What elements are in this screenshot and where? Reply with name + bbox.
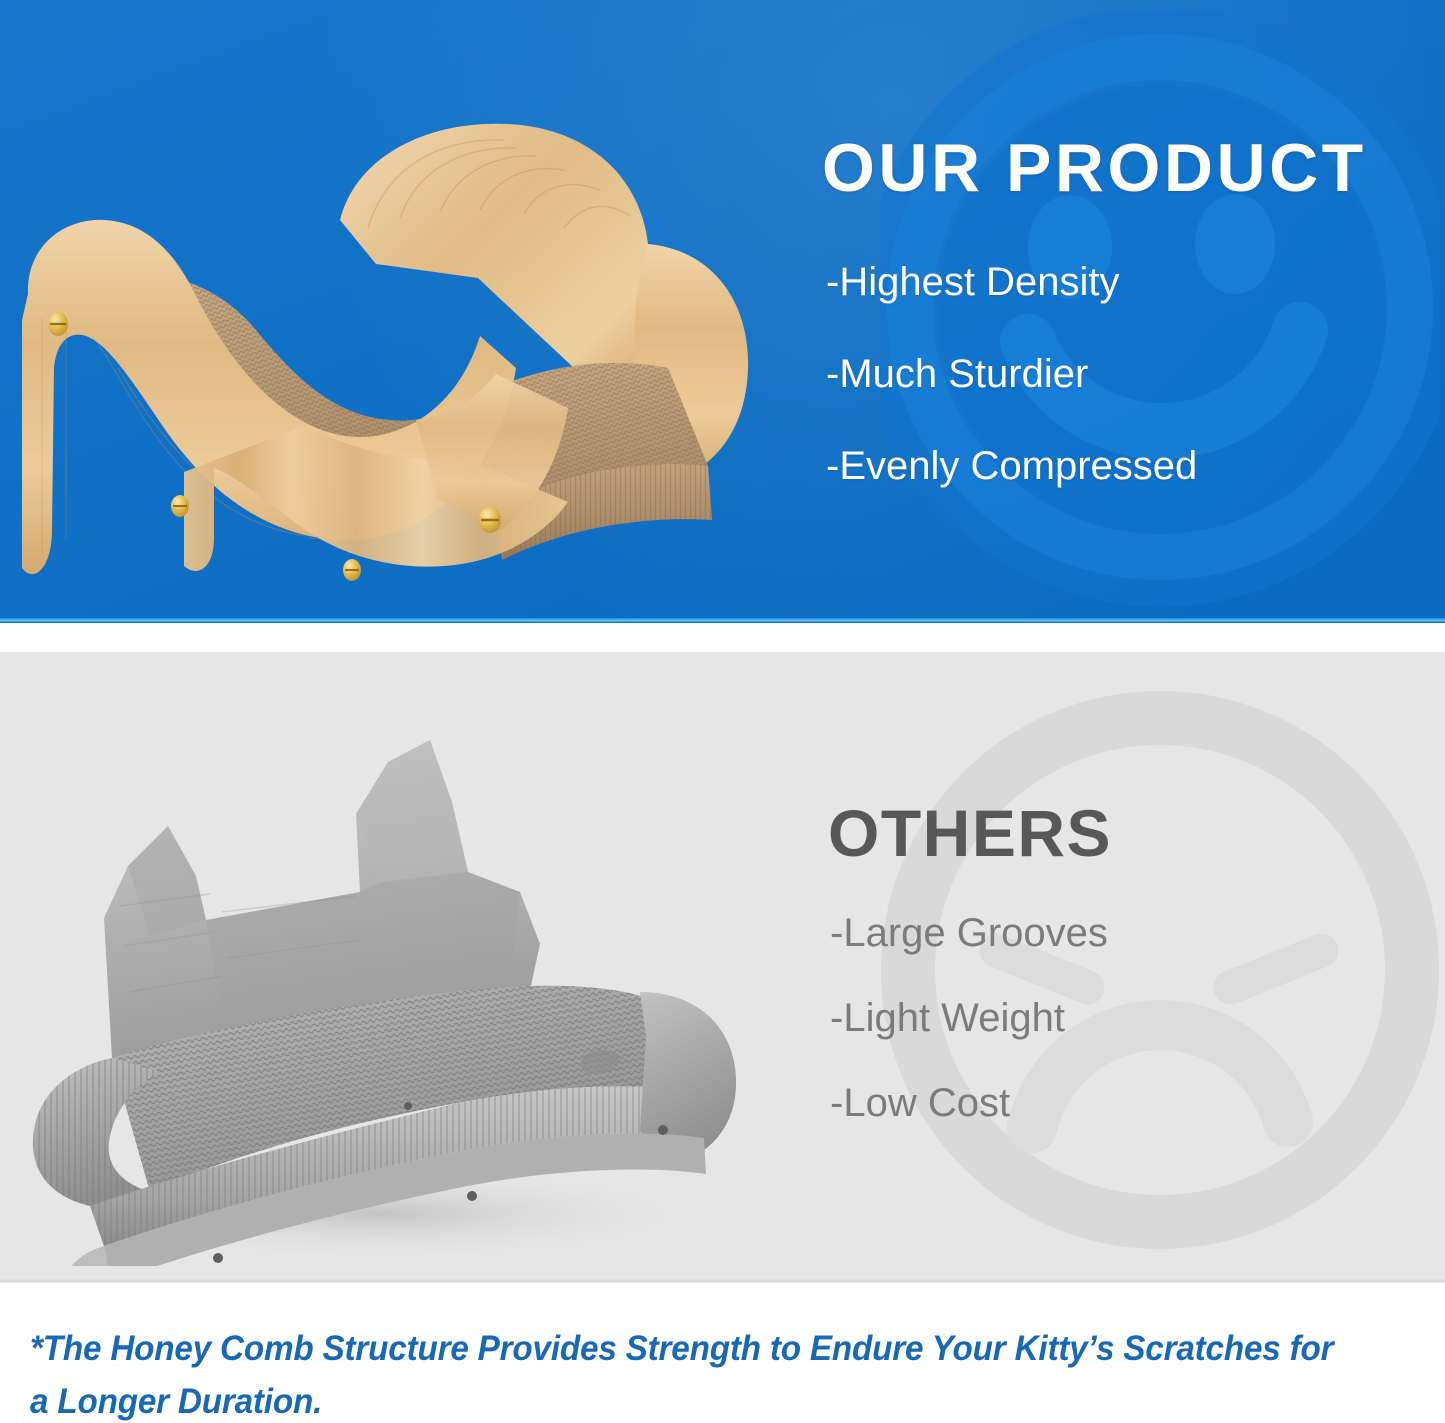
wooden-wave-cat-scratcher-image [8,68,808,588]
white-divider-band [0,623,1445,652]
list-item: -Light Weight [830,998,1108,1038]
gray-cat-ear-scratcher-image [0,706,800,1266]
our-product-feature-list: -Highest Density -Much Sturdier -Evenly … [826,262,1197,538]
list-item: -Low Cost [830,1083,1108,1123]
others-feature-list: -Large Grooves -Light Weight -Low Cost [830,913,1108,1168]
bottom-panel-edge [0,1279,1445,1283]
our-product-headline: OUR PRODUCT [822,134,1367,202]
list-item: -Much Sturdier [826,354,1197,394]
infographic-page: OUR PRODUCT -Highest Density -Much Sturd… [0,0,1445,1423]
our-product-panel: OUR PRODUCT -Highest Density -Much Sturd… [0,0,1445,622]
list-item: -Highest Density [826,262,1197,302]
others-headline: OTHERS [828,800,1112,866]
list-item: -Evenly Compressed [826,446,1197,486]
footer-note: *The Honey Comb Structure Provides Stren… [30,1322,1341,1423]
list-item: -Large Grooves [830,913,1108,953]
